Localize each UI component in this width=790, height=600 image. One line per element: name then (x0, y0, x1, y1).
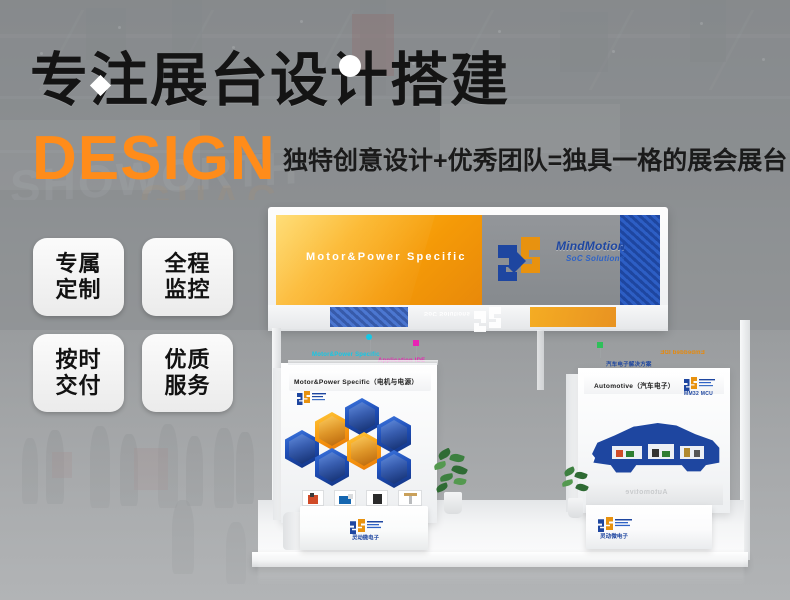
badge-line-1: 专属 (55, 251, 101, 277)
hexagon-shelf (377, 416, 411, 454)
badge-quality-service[interactable]: 优质 服务 (142, 334, 233, 412)
badge-row: 按时 交付 优质 服务 (33, 334, 233, 412)
badge-line-2: 定制 (55, 277, 101, 303)
page-tagline: 独特创意设计+优秀团队=独具一格的展会展台 (283, 146, 787, 176)
header-brand-name: MindMotion (556, 239, 625, 253)
floor-reflection (258, 556, 744, 586)
right-wall-lower-text: Automotive (625, 489, 668, 496)
header-orange-panel: Motor&Power Specific (276, 215, 482, 305)
badge-line-2: 服务 (164, 373, 210, 399)
booth-pillar-middle (537, 330, 544, 390)
hexagon-shelf (345, 398, 379, 436)
hexagon-display-shelves (285, 398, 435, 488)
hanging-tag-node (413, 340, 419, 346)
hexagon-shelf (347, 432, 381, 470)
product-display (302, 490, 324, 506)
left-counter-side (283, 512, 301, 550)
hanging-tag-3: 汽车电子解决方案 (606, 360, 652, 368)
design-wordmark: DESIGN (32, 128, 276, 190)
booth-header-banner: Motor&Power Specific MindMotion SoC Solu… (276, 215, 660, 305)
mindmotion-logo-icon (488, 233, 550, 285)
mindmotion-counter-logo-icon: 灵动微电子 (348, 518, 390, 540)
decorative-plant (432, 448, 472, 514)
header-orange-panel-text: Motor&Power Specific (306, 251, 467, 263)
hanging-tag-node (597, 342, 603, 348)
feature-badges: 专属 定制 全程 监控 按时 交付 优质 服务 (33, 238, 233, 430)
svg-text:灵动微电子: 灵动微电子 (600, 532, 628, 539)
car-shelf-product (626, 451, 634, 457)
car-shelf-product (694, 450, 700, 457)
underside-blue-panel (330, 307, 408, 327)
badge-monitoring[interactable]: 全程 监控 (142, 238, 233, 316)
badge-line-1: 优质 (164, 347, 210, 373)
svg-text:灵动微电子: 灵动微电子 (352, 533, 380, 540)
underside-orange-panel (530, 307, 616, 327)
car-shelf-product (662, 451, 670, 457)
underside-logo-icon (468, 304, 508, 334)
product-display (366, 490, 388, 506)
hexagon-shelf (315, 448, 349, 486)
badge-line-2: 监控 (164, 277, 210, 303)
hanging-tag-node (366, 334, 372, 340)
car-shaped-display-shelf (588, 418, 722, 480)
hanging-tag-0: Motor&Power Specific (312, 352, 380, 358)
badge-line-2: 交付 (55, 373, 101, 399)
header-brand-subtitle: SoC Solutions (566, 254, 625, 263)
circle-accent-icon (339, 55, 361, 77)
hexagon-shelf (285, 430, 319, 468)
badge-line-1: 全程 (164, 251, 210, 277)
product-display (334, 490, 356, 506)
car-shelf-product (616, 450, 623, 457)
product-display (398, 490, 422, 506)
badge-row: 专属 定制 全程 监控 (33, 238, 233, 316)
badge-custom[interactable]: 专属 定制 (33, 238, 124, 316)
mindmotion-counter-logo-icon: 灵动微电子 (596, 516, 640, 539)
header-blue-stripe (620, 215, 660, 305)
car-shelf-product (652, 449, 659, 457)
right-wall-title: Automotive（汽车电子） (594, 380, 675, 390)
left-wall-top-trim (288, 360, 438, 365)
decorative-plant (560, 466, 592, 518)
badge-line-1: 按时 (55, 347, 101, 373)
product-shelf-row-left (300, 486, 425, 506)
hanging-tag-2: Embedded IDE (660, 350, 705, 356)
hexagon-shelf (315, 412, 349, 450)
badge-on-time-delivery[interactable]: 按时 交付 (33, 334, 124, 412)
hexagon-shelf (377, 450, 411, 488)
left-wall-title: Motor&Power Specific（电机与电源） (294, 376, 418, 386)
car-shelf-product (684, 448, 690, 457)
underside-brand-text: SoC Solutions (424, 310, 470, 316)
right-wall-mcu-label: MM32 MCU (684, 391, 713, 397)
